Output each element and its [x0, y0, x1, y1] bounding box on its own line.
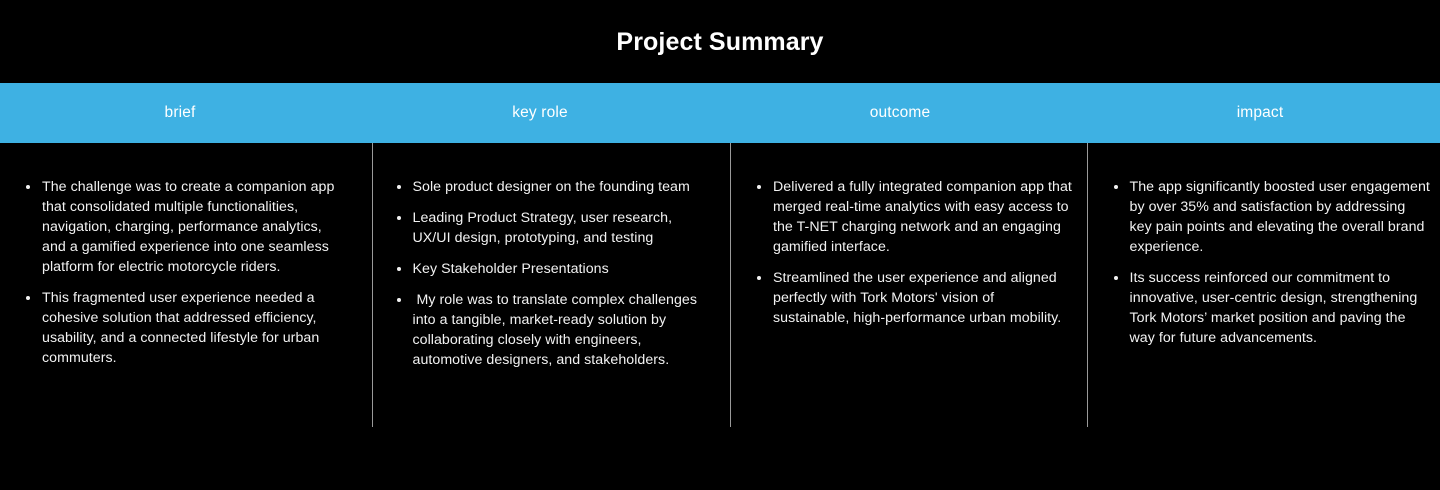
list-item: Its success reinforced our commitment to…: [1108, 268, 1431, 348]
column-header-label: key role: [512, 105, 567, 121]
column-header-label: impact: [1237, 105, 1284, 121]
column-header-band: brief key role outcome impact: [0, 83, 1440, 143]
list-item: This fragmented user experience needed a…: [20, 288, 343, 368]
column-body-key-role: Sole product designer on the founding te…: [373, 143, 732, 427]
column-header-label: outcome: [870, 105, 931, 121]
column-header-brief: brief: [0, 83, 360, 143]
list-item: My role was to translate complex challen…: [391, 290, 714, 370]
list-item: Delivered a fully integrated companion a…: [751, 177, 1074, 257]
bullet-list: Delivered a fully integrated companion a…: [751, 177, 1074, 328]
column-body-brief: The challenge was to create a companion …: [0, 143, 373, 427]
list-item: Streamlined the user experience and alig…: [751, 268, 1074, 328]
title-bar: Project Summary: [0, 0, 1440, 83]
list-item: The challenge was to create a companion …: [20, 177, 343, 277]
bullet-list: The challenge was to create a companion …: [20, 177, 343, 368]
list-item: Leading Product Strategy, user research,…: [391, 208, 714, 248]
column-body-impact: The app significantly boosted user engag…: [1088, 143, 1440, 427]
bullet-list: Sole product designer on the founding te…: [391, 177, 714, 370]
bullet-list: The app significantly boosted user engag…: [1108, 177, 1431, 348]
column-body-outcome: Delivered a fully integrated companion a…: [731, 143, 1088, 427]
list-item: Sole product designer on the founding te…: [391, 177, 714, 197]
column-header-label: brief: [165, 105, 196, 121]
column-header-outcome: outcome: [720, 83, 1080, 143]
footer-spacer: [0, 427, 1440, 490]
list-item: Key Stakeholder Presentations: [391, 259, 714, 279]
column-body-row: The challenge was to create a companion …: [0, 143, 1440, 427]
project-summary-slide: Project Summary brief key role outcome i…: [0, 0, 1440, 490]
column-header-impact: impact: [1080, 83, 1440, 143]
list-item: The app significantly boosted user engag…: [1108, 177, 1431, 257]
column-header-key-role: key role: [360, 83, 720, 143]
page-title: Project Summary: [616, 28, 823, 55]
